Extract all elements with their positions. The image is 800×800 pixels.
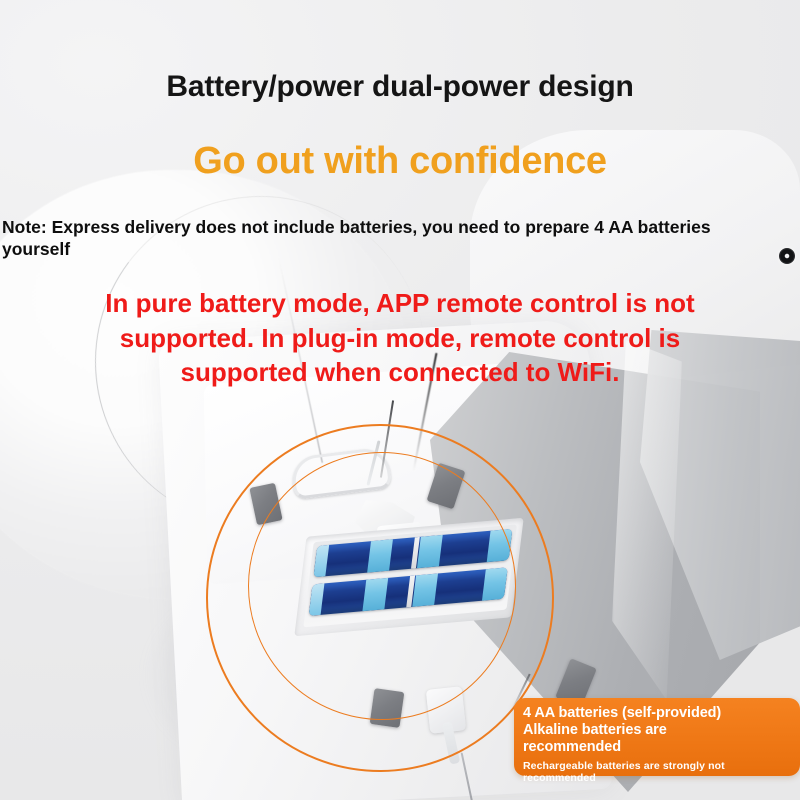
delivery-note: Note: Express delivery does not include …	[2, 216, 762, 261]
battery-recommendation-callout: 4 AA batteries (self-provided) Alkaline …	[514, 698, 800, 776]
product-marketing-image: Battery/power dual-power design Go out w…	[0, 0, 800, 800]
page-title: Battery/power dual-power design	[0, 70, 800, 104]
callout-line-1: 4 AA batteries (self-provided)	[523, 705, 800, 722]
callout-line-2: Alkaline batteries are	[523, 722, 800, 739]
callout-subnote: Rechargeable batteries are strongly not …	[523, 760, 800, 784]
sensor-dot-icon	[779, 248, 795, 264]
callout-line-3: recommended	[523, 739, 800, 756]
page-subtitle: Go out with confidence	[0, 140, 800, 183]
remote-control-warning: In pure battery mode, APP remote control…	[0, 286, 800, 390]
callout-main-text: 4 AA batteries (self-provided) Alkaline …	[523, 705, 800, 755]
highlight-ring-inner	[248, 452, 516, 720]
